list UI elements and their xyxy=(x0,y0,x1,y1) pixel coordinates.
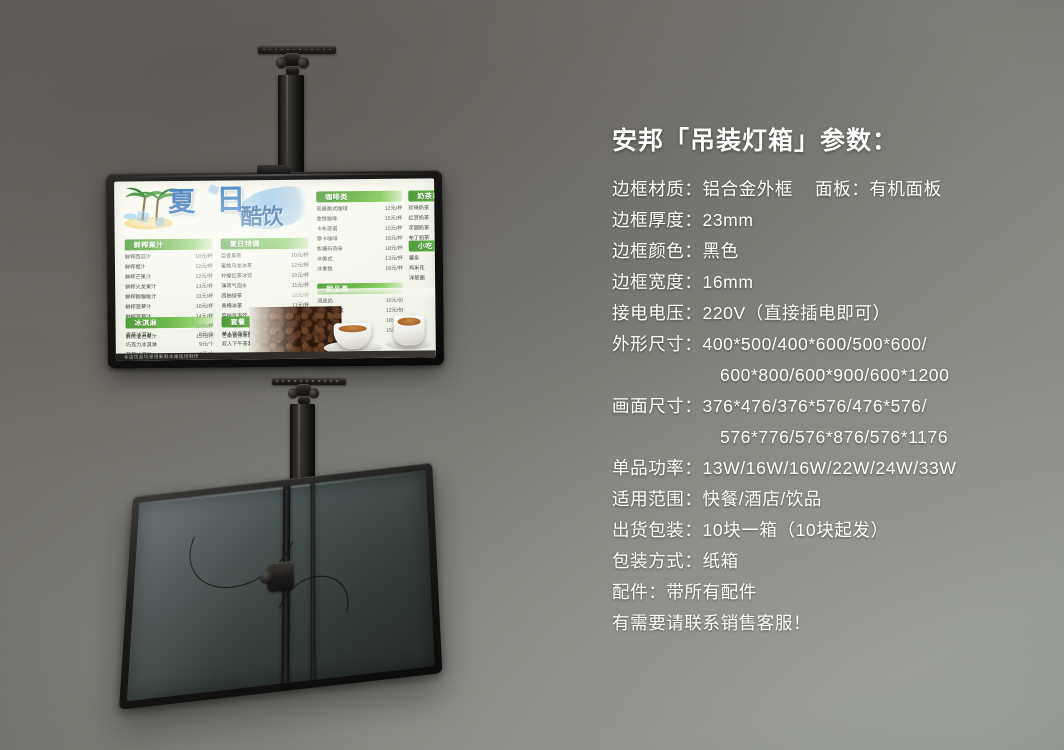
section-header: 夏日特调 xyxy=(221,238,309,250)
section-title: 夏日特调 xyxy=(230,239,260,249)
menu-item-name: 鲜榨芒果汁 xyxy=(125,273,151,283)
menu-item-price: 10元/杯 xyxy=(286,252,309,262)
spec-title: 安邦「吊装灯箱」参数： xyxy=(612,126,1042,156)
menu-item-name: 柠檬红茶冰饮 xyxy=(221,272,252,282)
menu-item-price: 10元/杯 xyxy=(190,253,213,263)
menu-item-price: 12元/杯 xyxy=(190,263,213,273)
spec-value: 16mm xyxy=(703,272,754,292)
menu-item-name: 洋葱圈 xyxy=(409,274,425,284)
spec-label: 画面尺寸： xyxy=(612,396,703,416)
menu-item-name: 红豆奶茶 xyxy=(408,214,429,224)
menu-item-name: 香草冰淇淋 xyxy=(126,331,152,341)
pole-highlight-upper xyxy=(286,75,288,179)
menu-item-price: 13元/杯 xyxy=(191,283,214,293)
menu-item-name: 西柚绿茶 xyxy=(221,292,242,302)
menu-column-5: 小吃 薯条8元/份鸡米花10元/份洋葱圈9元/份 xyxy=(409,240,436,285)
menu-item-name: 鸡米花 xyxy=(409,264,425,274)
spec-label: 边框材质： xyxy=(612,179,703,199)
headline-char-3: 酷饮 xyxy=(240,206,282,228)
menu-item-name: 薯条 xyxy=(409,254,419,264)
tilt-knob-left-lower xyxy=(288,388,298,398)
coffee-photo xyxy=(249,287,436,359)
menu-item-name: 冰美式 xyxy=(317,255,333,265)
spec-label: 边框颜色： xyxy=(612,241,703,261)
menu-item-name: 蜜桃乌龙冰茶 xyxy=(221,262,252,272)
menu-item-row: 芋圆奶茶12元/杯 xyxy=(409,224,436,235)
spec-line: 接电电压：220V（直接插电即可） xyxy=(612,298,1042,329)
spec-line: 边框材质：铝合金外框面板：有机面板 xyxy=(612,174,1042,205)
menu-item-price: 16元/杯 xyxy=(380,265,403,275)
section-header: 冰淇淋 xyxy=(125,317,213,329)
menu-item-name: 卡布奇诺 xyxy=(317,225,338,235)
specification-panel: 安邦「吊装灯箱」参数： 边框材质：铝合金外框面板：有机面板边框厚度：23mm边框… xyxy=(612,126,1042,639)
spec-value: 220V（直接插电即可） xyxy=(703,303,891,323)
spec-label: 接电电压： xyxy=(612,303,703,323)
spec-label: 包装方式： xyxy=(612,551,703,571)
lightbox-front-unit[interactable]: 夏 日 酷饮 鲜榨果汁 鲜榨西瓜汁10元/杯鲜榨橙汁12元/杯鲜榨芒果汁12元/… xyxy=(106,170,444,369)
menu-item-name: 鲜榨菠萝汁 xyxy=(125,303,151,313)
menu-poster: 夏 日 酷饮 鲜榨果汁 鲜榨西瓜汁10元/杯鲜榨橙汁12元/杯鲜榨芒果汁12元/… xyxy=(114,178,436,360)
section-title: 小吃 xyxy=(418,241,433,251)
menu-item-name: 珍珠奶茶 xyxy=(408,204,429,214)
spec-value: 快餐/酒店/饮品 xyxy=(703,489,823,509)
spec-contact-note: 有需要请联系销售客服！ xyxy=(612,608,1042,639)
menu-item-name: 薄荷气泡水 xyxy=(221,282,247,292)
menu-item-price: 10元/杯 xyxy=(191,303,214,313)
spec-line: 边框宽度：16mm xyxy=(612,267,1042,298)
section-header: 小吃 xyxy=(409,240,436,252)
menu-item-row: 洋葱圈9元/份 xyxy=(409,274,436,285)
drop-pole-upper xyxy=(278,75,304,179)
spec-label: 配件： xyxy=(612,582,666,602)
spec-line: 包装方式：纸箱 xyxy=(612,546,1042,577)
spec-line: 画面尺寸：376*476/376*576/476*576/ xyxy=(612,391,1042,422)
spec-label-secondary: 面板： xyxy=(815,179,869,199)
menu-item-name: 拿铁咖啡 xyxy=(316,215,337,225)
section-title: 咖啡类 xyxy=(325,192,348,202)
spec-label: 边框宽度： xyxy=(612,272,703,292)
spec-value: 带所有配件 xyxy=(666,582,757,602)
mount-tab xyxy=(257,165,291,174)
menu-item-name: 芋圆奶茶 xyxy=(409,224,430,234)
ceiling-mount-upper xyxy=(246,46,356,176)
spec-line-continuation: 600*800/600*900/600*1200 xyxy=(612,360,1042,391)
menu-item-row: 红豆奶茶10元/杯 xyxy=(408,214,435,225)
menu-item-row: 薯条8元/份 xyxy=(409,254,436,265)
menu-item-price: 12元/杯 xyxy=(286,262,309,272)
menu-item-price: 10元/杯 xyxy=(286,272,309,282)
section-header: 鲜榨果汁 xyxy=(125,239,213,251)
menu-item-price: 13元/杯 xyxy=(191,293,214,303)
spec-label: 单品功率： xyxy=(612,458,703,478)
menu-item-name: 现磨美式咖啡 xyxy=(316,205,347,215)
menu-item-name: 巧克力冰淇淋 xyxy=(126,341,157,351)
poster-footer-note: 本店饮品均采用新鲜水果现场制作 xyxy=(124,353,199,361)
section-items: 薯条8元/份鸡米花10元/份洋葱圈9元/份 xyxy=(409,254,436,285)
spec-label: 出货包装： xyxy=(612,520,703,540)
menu-item-name: 鲜榨火龙果汁 xyxy=(125,283,156,293)
tilt-knob-right-lower xyxy=(309,388,319,398)
menu-column-3: 咖啡类 现磨美式咖啡12元/杯拿铁咖啡15元/杯卡布奇诺15元/杯摩卡咖啡16元… xyxy=(316,191,403,276)
menu-item-price: 15元/杯 xyxy=(380,225,403,235)
section-title: 套餐 xyxy=(230,317,245,327)
spec-value: 铝合金外框 xyxy=(703,179,794,199)
spec-line: 单品功率：13W/16W/16W/22W/24W/33W xyxy=(612,453,1042,484)
menu-item-name: 摩卡咖啡 xyxy=(317,235,338,245)
spec-label: 适用范围： xyxy=(612,489,703,509)
section-header: 奶茶系列 xyxy=(408,190,436,202)
menu-item-price: 12元/杯 xyxy=(190,273,213,283)
section-title: 鲜榨果汁 xyxy=(134,240,164,250)
menu-item-name: 青梅冰茶 xyxy=(221,302,242,312)
headline-char-1: 夏 xyxy=(168,189,194,216)
spec-line: 适用范围：快餐/酒店/饮品 xyxy=(612,484,1042,515)
menu-item-price: 13元/杯 xyxy=(380,255,403,265)
menu-item-price: 12元/杯 xyxy=(380,205,403,215)
spec-line: 出货包装：10块一箱（10块起发） xyxy=(612,515,1042,546)
spec-value: 13W/16W/16W/22W/24W/33W xyxy=(703,458,957,478)
spec-line: 配件：带所有配件 xyxy=(612,577,1042,608)
menu-item-price: 8元/个 xyxy=(194,331,214,341)
menu-item-row: 鸡米花10元/份 xyxy=(409,264,436,275)
spec-label: 外形尺寸： xyxy=(612,334,703,354)
spec-value: 23mm xyxy=(703,210,754,230)
menu-item-price: 16元/杯 xyxy=(380,235,403,245)
section-header: 咖啡类 xyxy=(316,191,402,203)
product-photo-scene: 夏 日 酷饮 鲜榨果汁 鲜榨西瓜汁10元/杯鲜榨橙汁12元/杯鲜榨芒果汁12元/… xyxy=(0,0,1064,750)
spec-line-continuation: 576*776/576*876/576*1176 xyxy=(612,422,1042,453)
menu-item-name: 百香果茶 xyxy=(221,252,242,262)
spec-line: 外形尺寸：400*500/400*600/500*600/ xyxy=(612,329,1042,360)
menu-item-row: 冰拿铁16元/杯 xyxy=(317,265,403,276)
menu-item-name: 鲜榨橙汁 xyxy=(125,263,146,273)
spec-line: 边框颜色：黑色 xyxy=(612,236,1042,267)
photo-top-fade xyxy=(249,287,435,303)
spec-value: 黑色 xyxy=(703,241,739,261)
spec-value: 376*476/376*576/476*576/ xyxy=(703,396,928,416)
section-title: 奶茶系列 xyxy=(417,191,436,201)
tilt-knob-left-upper xyxy=(276,57,287,68)
menu-item-row: 珍珠奶茶10元/杯 xyxy=(408,204,436,215)
spec-value-secondary: 有机面板 xyxy=(869,179,941,199)
menu-item-name: 鲜榨猕猴桃汁 xyxy=(125,293,156,303)
spec-value: 10块一箱（10块起发） xyxy=(703,520,889,540)
spec-label: 边框厚度： xyxy=(612,210,703,230)
menu-item-price: 18元/杯 xyxy=(380,245,403,255)
spec-value: 400*500/400*600/500*600/ xyxy=(703,334,928,354)
menu-item-name: 单人饮品套餐 xyxy=(222,330,253,340)
section-items: 现磨美式咖啡12元/杯拿铁咖啡15元/杯卡布奇诺15元/杯摩卡咖啡16元/杯焦糖… xyxy=(316,205,403,276)
tilt-knob-right-upper xyxy=(298,57,309,68)
lightbox-rear-unit[interactable] xyxy=(119,463,442,710)
poster-headline: 夏 日 酷饮 xyxy=(120,182,317,236)
menu-item-name: 冰拿铁 xyxy=(317,265,333,275)
section-title: 冰淇淋 xyxy=(135,318,158,328)
spec-line-list: 边框材质：铝合金外框面板：有机面板边框厚度：23mm边框颜色：黑色边框宽度：16… xyxy=(612,174,1042,639)
menu-item-price: 9元/个 xyxy=(194,341,214,351)
bezel-highlight xyxy=(109,172,439,177)
menu-item-name: 鲜榨西瓜汁 xyxy=(125,253,151,263)
spec-line: 边框厚度：23mm xyxy=(612,205,1042,236)
menu-item-price: 15元/杯 xyxy=(380,215,403,225)
spec-value: 纸箱 xyxy=(703,551,739,571)
menu-item-name: 焦糖玛奇朵 xyxy=(317,245,343,255)
